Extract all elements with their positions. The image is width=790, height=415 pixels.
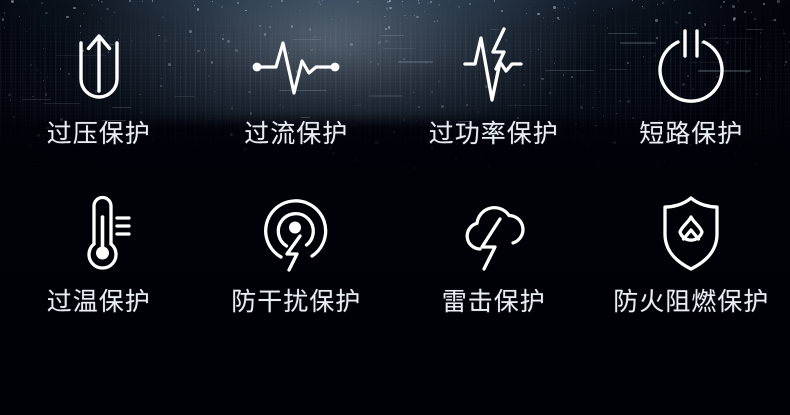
- feature-row: 过压保护 过流保护: [0, 22, 790, 170]
- feature-label: 过流保护: [244, 122, 348, 147]
- cloud-lightning-icon: [448, 190, 540, 276]
- u-turn-up-arrow-icon: [64, 22, 134, 108]
- feature-row: 过温保护 防干扰保护: [0, 190, 790, 338]
- feature-label: 过温保护: [47, 290, 151, 315]
- feature-label: 过功率保护: [429, 122, 559, 147]
- thermometer-icon: [63, 190, 135, 276]
- shield-flame-icon: [653, 190, 729, 276]
- feature-item-fireproof[interactable]: 防火阻燃保护: [593, 190, 790, 338]
- protection-features-poster: 过压保护 过流保护: [0, 0, 790, 415]
- feature-item-shortcircuit[interactable]: 短路保护: [593, 22, 790, 170]
- feature-item-lightning[interactable]: 雷击保护: [395, 190, 593, 338]
- feature-item-overtemperature[interactable]: 过温保护: [0, 190, 198, 338]
- feature-grid: 过压保护 过流保护: [0, 0, 790, 415]
- feature-label: 雷击保护: [442, 290, 546, 315]
- feature-item-overcurrent[interactable]: 过流保护: [198, 22, 396, 170]
- feature-item-overvoltage[interactable]: 过压保护: [0, 22, 198, 170]
- feature-label: 过压保护: [47, 122, 151, 147]
- pulse-waveform-icon: [250, 22, 342, 108]
- feature-label: 防火阻燃保护: [613, 290, 769, 315]
- power-symbol-icon: [653, 22, 729, 108]
- feature-label: 防干扰保护: [231, 290, 361, 315]
- feature-item-antiinterference[interactable]: 防干扰保护: [198, 190, 396, 338]
- feature-item-overpower[interactable]: 过功率保护: [395, 22, 593, 170]
- signal-interference-icon: [256, 190, 336, 276]
- waveform-lightning-icon: [459, 22, 529, 108]
- feature-label: 短路保护: [639, 122, 743, 147]
